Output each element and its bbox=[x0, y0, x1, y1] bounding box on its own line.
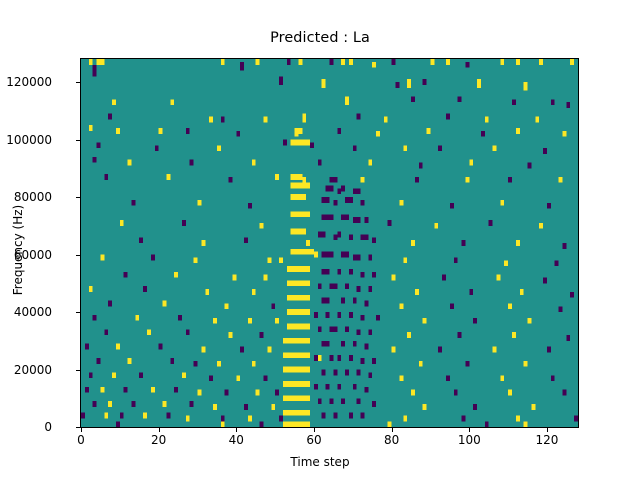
y-tick-label: 20000 bbox=[14, 363, 52, 377]
y-tick-mark bbox=[76, 370, 80, 371]
y-tick-label: 100000 bbox=[6, 133, 52, 147]
x-tick-label: 60 bbox=[306, 433, 321, 447]
x-tick-label: 80 bbox=[384, 433, 399, 447]
y-tick-label: 40000 bbox=[14, 305, 52, 319]
y-tick-mark bbox=[76, 140, 80, 141]
x-tick-mark bbox=[159, 428, 160, 432]
x-tick-mark bbox=[314, 428, 315, 432]
x-tick-mark bbox=[469, 428, 470, 432]
x-tick-mark bbox=[392, 428, 393, 432]
x-tick-label: 20 bbox=[151, 433, 166, 447]
x-tick-mark bbox=[236, 428, 237, 432]
x-tick-mark bbox=[547, 428, 548, 432]
x-axis-label: Time step bbox=[0, 455, 640, 469]
y-tick-mark bbox=[76, 312, 80, 313]
heatmap-image bbox=[81, 59, 578, 427]
x-tick-label: 0 bbox=[77, 433, 85, 447]
page-title: Predicted : La bbox=[0, 30, 640, 46]
y-tick-mark bbox=[76, 197, 80, 198]
x-tick-label: 100 bbox=[458, 433, 481, 447]
x-tick-mark bbox=[81, 428, 82, 432]
y-tick-label: 0 bbox=[44, 420, 52, 434]
y-tick-label: 120000 bbox=[6, 75, 52, 89]
heatmap-axes bbox=[80, 58, 579, 428]
x-tick-label: 120 bbox=[535, 433, 558, 447]
y-tick-label: 80000 bbox=[14, 190, 52, 204]
y-tick-mark bbox=[76, 255, 80, 256]
y-tick-mark bbox=[76, 82, 80, 83]
x-tick-label: 40 bbox=[229, 433, 244, 447]
y-tick-label: 60000 bbox=[14, 248, 52, 262]
matplotlib-figure: Predicted : La Frequency (Hz) 0200004000… bbox=[0, 0, 640, 480]
y-tick-mark bbox=[76, 427, 80, 428]
